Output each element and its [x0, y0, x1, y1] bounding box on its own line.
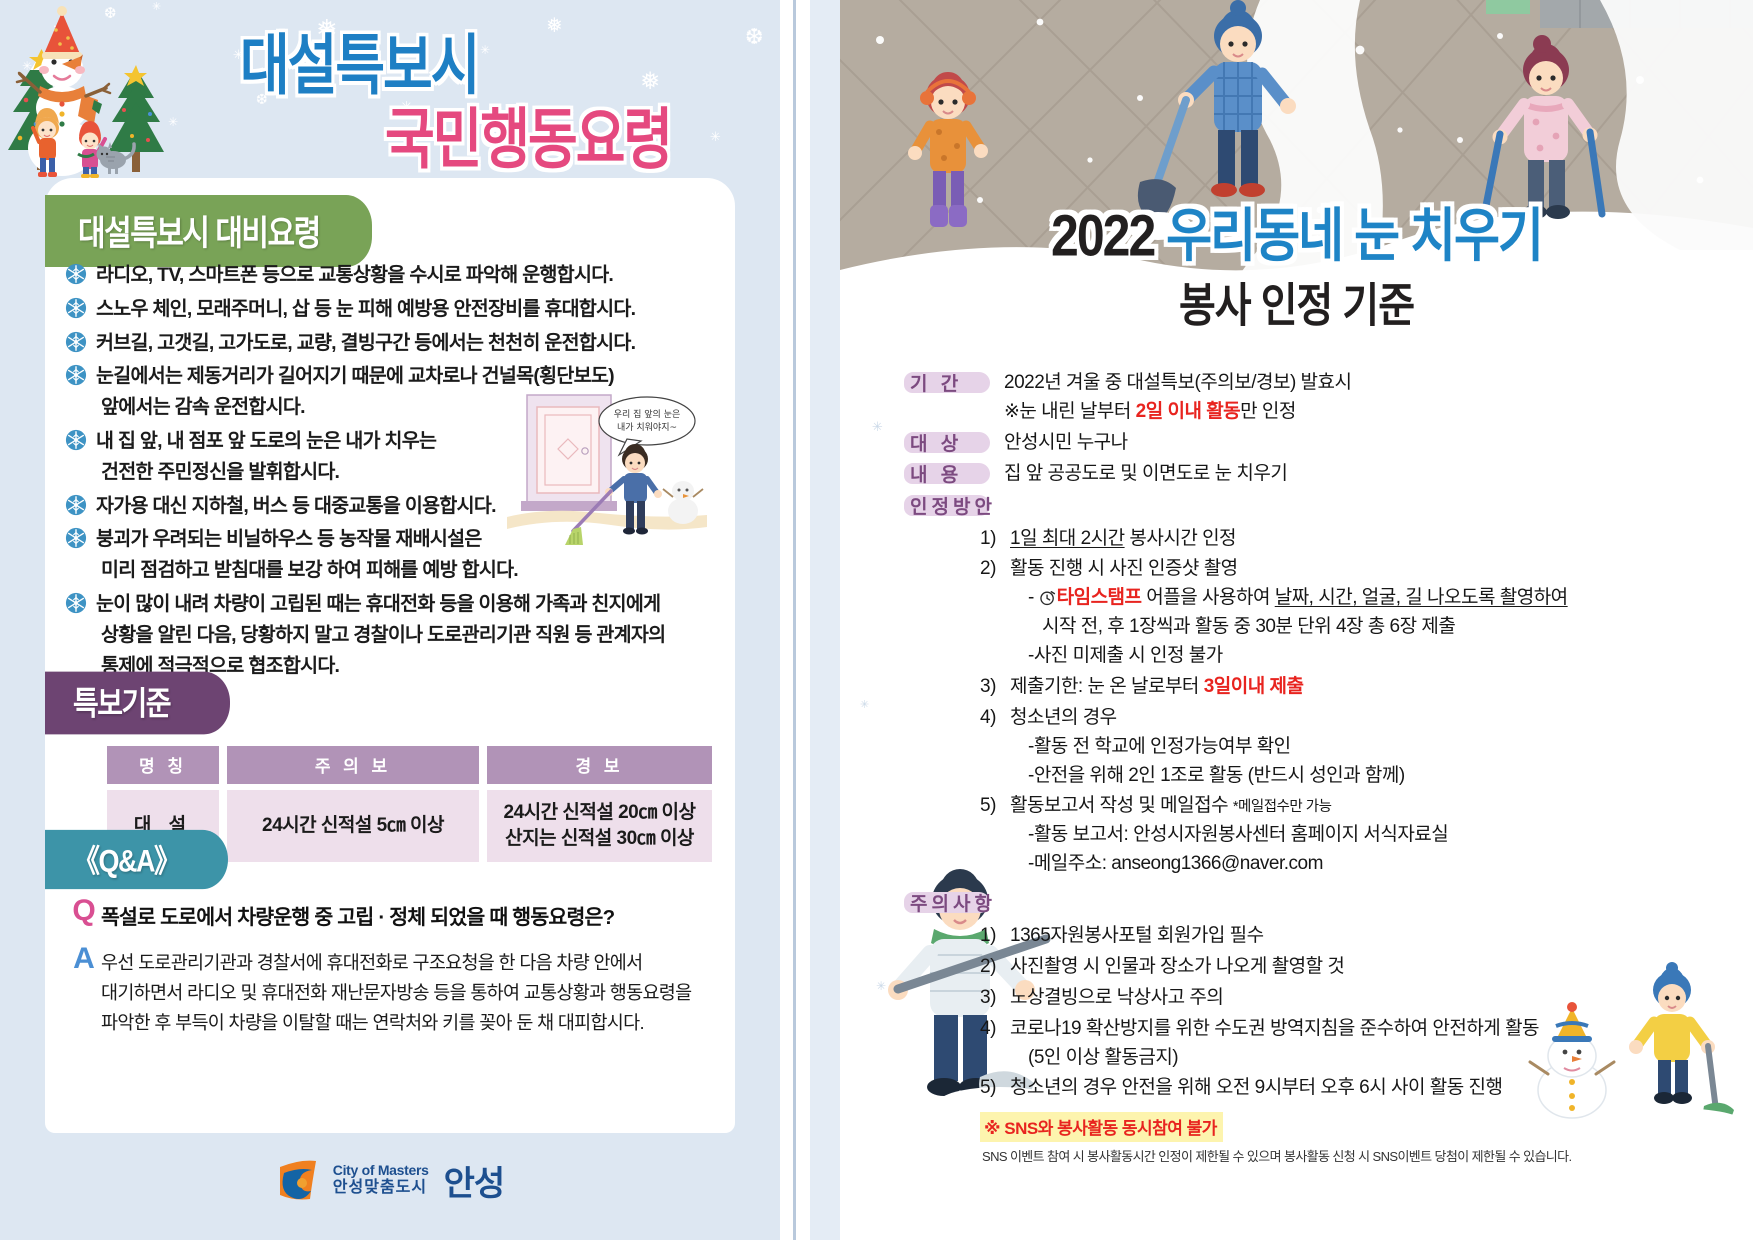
field-label: 대 상	[908, 428, 1004, 457]
main-title-text: 우리동네 눈 치우기	[1166, 203, 1542, 268]
list-item: 4) 청소년의 경우 -활동 전 학교에 인정가능여부 확인 -안전을 위해 2…	[980, 704, 1753, 791]
item-text: 코로나19 확산방지를 위한 수도권 방역지침을 준수하여 안전하게 활동 (5…	[1010, 1015, 1753, 1073]
list-item-text: 스노우 체인, 모래주머니, 삽 등 눈 피해 예방용 안전장비를 휴대합시다.	[96, 294, 725, 325]
item-number: 5)	[980, 1074, 1010, 1103]
clock-icon	[1039, 589, 1056, 606]
item-subline: -안전을 위해 2인 1조로 활동 (반드시 성인과 함께)	[1028, 762, 1753, 791]
qa-question: Q 폭설로 도로에서 차량운행 중 고립 · 정체 되었을 때 행동요령은?	[67, 896, 727, 930]
item-text: 활동 진행 시 사진 인증샷 촬영 - 타임스탬프 어플을 사용하여 날짜, 시…	[1010, 555, 1753, 671]
right-title-line1: 2022 우리동네 눈 치우기	[840, 189, 1753, 273]
left-header: 대설특보시 국민행동요령	[0, 0, 780, 178]
item-number: 1)	[980, 525, 1010, 554]
poster-title-line2: 국민행동요령	[385, 85, 671, 181]
field-value: 집 앞 공공도로 및 이면도로 눈 치우기	[1004, 459, 1753, 489]
table-header-row: 명 칭 주 의 보 경 보	[107, 746, 712, 784]
logo-korean-text: 안성맞춤도시	[333, 1179, 429, 1197]
logo-city-name: 안성	[444, 1156, 505, 1205]
city-logo-footer: City of Masters 안성맞춤도시 안성	[0, 1140, 780, 1220]
a-marker: A	[67, 944, 101, 974]
item-subline: 시작 전, 후 1장씩과 활동 중 30분 단위 4장 총 6장 제출	[1042, 613, 1753, 642]
field-cautions-heading: 주의사항	[840, 888, 1753, 917]
item-text: 사진촬영 시 인물과 장소가 나오게 촬영할 것	[1010, 953, 1753, 982]
item-number: 3)	[980, 673, 1010, 702]
poster-page: ❅ ❆ ✳ ✳ ❅ ❆ ✳ ✳ ❅ ❅ ❆ ✳ ✳ ✳ ❆	[0, 0, 1753, 1240]
list-item: 눈이 많이 내려 차량이 고립된 때는 휴대전화 등을 이용해 가족과 친지에게…	[65, 589, 725, 681]
item-text: 1일 최대 2시간 봉사시간 인정	[1010, 525, 1753, 554]
right-details: 기 간 2022년 겨울 중 대설특보(주의보/경보) 발효시 ※눈 내린 날부…	[840, 368, 1753, 1165]
list-item: 커브길, 고갯길, 고가도로, 교량, 결빙구간 등에서는 천천히 운전합시다.	[65, 328, 725, 359]
list-item-text: 눈이 많이 내려 차량이 고립된 때는 휴대전화 등을 이용해 가족과 친지에게…	[96, 589, 725, 681]
item-subline: - 타임스탬프 어플을 사용하여 날짜, 시간, 얼굴, 길 나오도록 촬영하여	[1028, 584, 1753, 613]
qa-block: Q 폭설로 도로에서 차량운행 중 고립 · 정체 되었을 때 행동요령은? A…	[67, 896, 727, 1038]
answer-text: 우선 도로관리기관과 경찰서에 휴대전화로 구조요청을 한 다음 차량 안에서 …	[101, 944, 691, 1038]
field-label: 인정방안	[908, 491, 1004, 520]
snow-sweeping-illustration: 우리 집 앞의 눈은 내가 치워야지~	[507, 393, 707, 553]
list-item-text: 라디오, TV, 스마트폰 등으로 교통상황을 수시로 파악해 운행합시다.	[96, 260, 725, 291]
logo-text-block: City of Masters 안성맞춤도시	[333, 1163, 429, 1197]
field-label: 기 간	[908, 368, 1004, 397]
snowflake-bullet-icon	[65, 494, 91, 520]
item-subline: -활동 보고서: 안성시자원봉사센터 홈페이지 서식자료실	[1028, 821, 1753, 850]
left-panel: ❅ ❆ ✳ ✳ ❅ ❆ ✳ ✳ ❅ ❅ ❆ ✳ ✳ ✳ ❆	[0, 0, 780, 1240]
svg-text:우리 집 앞의 눈은: 우리 집 앞의 눈은	[614, 408, 681, 420]
right-subtitle: 봉사 인정 기준	[840, 268, 1753, 335]
list-item: 라디오, TV, 스마트폰 등으로 교통상황을 수시로 파악해 운행합시다.	[65, 260, 725, 291]
item-text: 1365자원봉사포털 회원가입 필수	[1010, 922, 1753, 951]
field-period: 기 간 2022년 겨울 중 대설특보(주의보/경보) 발효시 ※눈 내린 날부…	[840, 368, 1753, 427]
logo-english-text: City of Masters	[333, 1163, 429, 1179]
snowflake-bullet-icon	[65, 297, 91, 323]
item-number: 4)	[980, 704, 1010, 791]
snowflake-bullet-icon	[65, 331, 91, 357]
year-text: 2022	[1051, 203, 1154, 268]
sns-warning-highlight: ※ SNS와 봉사활동 동시참여 불가	[980, 1112, 1223, 1142]
item-number: 3)	[980, 984, 1010, 1013]
cautions-list: 1) 1365자원봉사포털 회원가입 필수 2) 사진촬영 시 인물과 장소가 …	[840, 922, 1753, 1103]
column-header-name: 명 칭	[107, 746, 219, 784]
svg-text:내가 치워야지~: 내가 치워야지~	[617, 421, 677, 433]
column-header-warning: 경 보	[487, 746, 712, 784]
sns-warning-note: SNS 이벤트 참여 시 봉사활동시간 인정이 제한될 수 있으며 봉사활동 신…	[982, 1146, 1753, 1165]
item-text: 청소년의 경우 안전을 위해 오전 9시부터 오후 6시 사이 활동 진행	[1010, 1074, 1753, 1103]
snowflake-bullet-icon	[65, 527, 91, 553]
panel-divider	[780, 0, 810, 1240]
list-item: 3) 노상결빙으로 낙상사고 주의	[980, 984, 1753, 1013]
field-value: 2022년 겨울 중 대설특보(주의보/경보) 발효시 ※눈 내린 날부터 2일…	[1004, 368, 1753, 427]
question-text: 폭설로 도로에서 차량운행 중 고립 · 정체 되었을 때 행동요령은?	[101, 896, 614, 930]
column-header-advisory: 주 의 보	[227, 746, 479, 784]
snowflake-bullet-icon	[65, 429, 91, 455]
cell-advisory: 24시간 신적설 5㎝ 이상	[227, 790, 479, 862]
section-heading-criteria: 특보기준	[45, 672, 230, 735]
list-item: 5) 활동보고서 작성 및 메일접수 *메일접수만 가능 -활동 보고서: 안성…	[980, 792, 1753, 879]
item-text: 노상결빙으로 낙상사고 주의	[1010, 984, 1753, 1013]
item-subline: -활동 전 학교에 인정가능여부 확인	[1028, 733, 1753, 762]
list-item: 2) 사진촬영 시 인물과 장소가 나오게 촬영할 것	[980, 953, 1753, 982]
field-subnote: ※눈 내린 날부터 2일 이내 활동만 인정	[1004, 398, 1753, 427]
field-label: 주의사항	[908, 888, 1004, 917]
list-item: 1) 1365자원봉사포털 회원가입 필수	[980, 922, 1753, 951]
list-item: 1) 1일 최대 2시간 봉사시간 인정	[980, 525, 1753, 554]
snowflake-bullet-icon	[65, 263, 91, 289]
right-panel: 2022 우리동네 눈 치우기 봉사 인정 기준 기 간 2022년 겨울 중 …	[810, 0, 1753, 1240]
item-subline: (5인 이상 활동금지)	[1028, 1044, 1753, 1073]
cell-warning: 24시간 신적설 20㎝ 이상 산지는 신적설 30㎝ 이상	[487, 790, 712, 862]
field-label: 내 용	[908, 459, 1004, 488]
item-number: 2)	[980, 953, 1010, 982]
item-subline: -사진 미제출 시 인정 불가	[1028, 642, 1753, 671]
field-method-heading: 인정방안	[840, 491, 1753, 520]
section-heading-preparation: 대설특보시 대비요령	[45, 195, 372, 267]
list-item: 4) 코로나19 확산방지를 위한 수도권 방역지침을 준수하여 안전하게 활동…	[980, 1015, 1753, 1073]
item-number: 1)	[980, 922, 1010, 951]
list-item-text: 커브길, 고갯길, 고가도로, 교량, 결빙구간 등에서는 천천히 운전합시다.	[96, 328, 725, 359]
list-item: 3) 제출기한: 눈 온 날로부터 3일이내 제출	[980, 673, 1753, 702]
item-subline: -메일주소: anseong1366@naver.com	[1028, 850, 1753, 879]
item-number: 4)	[980, 1015, 1010, 1073]
snowflake-bullet-icon	[65, 364, 91, 390]
list-item: 2) 활동 진행 시 사진 인증샷 촬영 - 타임스탬프 어플을 사용하여 날짜…	[980, 555, 1753, 671]
snowflake-bullet-icon	[65, 592, 91, 618]
anseong-city-logo-icon	[276, 1157, 322, 1203]
item-text: 청소년의 경우 -활동 전 학교에 인정가능여부 확인 -안전을 위해 2인 1…	[1010, 704, 1753, 791]
item-number: 2)	[980, 555, 1010, 671]
item-number: 5)	[980, 792, 1010, 879]
section-heading-qa: 《Q&A》	[45, 830, 228, 889]
list-item: 5) 청소년의 경우 안전을 위해 오전 9시부터 오후 6시 사이 활동 진행	[980, 1074, 1753, 1103]
right-title-block: 2022 우리동네 눈 치우기 봉사 인정 기준	[840, 195, 1753, 331]
qa-answer: A 우선 도로관리기관과 경찰서에 휴대전화로 구조요청을 한 다음 차량 안에…	[67, 944, 727, 1038]
left-content-card: 대설특보시 대비요령 라디오, TV, 스마트폰 등으로 교통상황을 수시로 파…	[45, 178, 735, 1133]
q-marker: Q	[67, 896, 101, 926]
item-text: 제출기한: 눈 온 날로부터 3일이내 제출	[1010, 673, 1753, 702]
field-content: 내 용 집 앞 공공도로 및 이면도로 눈 치우기	[840, 459, 1753, 489]
list-item: 스노우 체인, 모래주머니, 삽 등 눈 피해 예방용 안전장비를 휴대합시다.	[65, 294, 725, 325]
field-value: 안성시민 누구나	[1004, 428, 1753, 458]
field-target: 대 상 안성시민 누구나	[840, 428, 1753, 458]
item-text: 활동보고서 작성 및 메일접수 *메일접수만 가능 -활동 보고서: 안성시자원…	[1010, 792, 1753, 879]
method-list: 1) 1일 최대 2시간 봉사시간 인정 2) 활동 진행 시 사진 인증샷 촬…	[840, 525, 1753, 880]
